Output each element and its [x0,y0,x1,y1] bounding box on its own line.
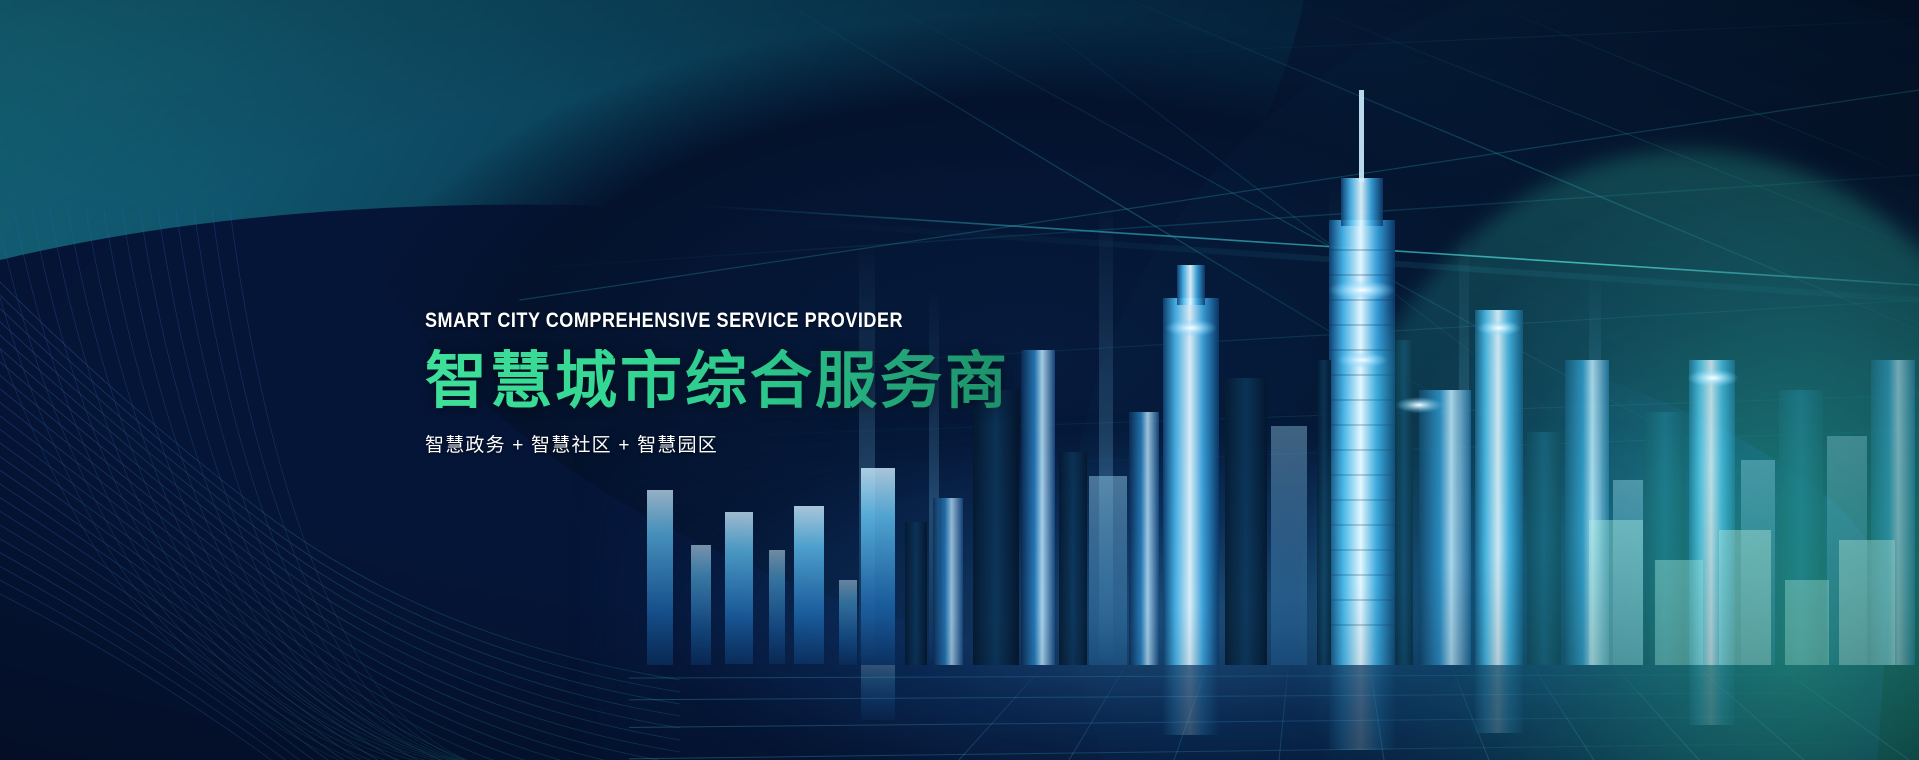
hero-text-block: SMART CITY COMPREHENSIVE SERVICE PROVIDE… [425,310,1010,457]
page-title: 智慧城市综合服务商 [425,349,1010,414]
smart-city-hero-banner: SMART CITY COMPREHENSIVE SERVICE PROVIDE… [0,0,1919,760]
eyebrow-tagline: SMART CITY COMPREHENSIVE SERVICE PROVIDE… [425,310,928,331]
subtitle-services: 智慧政务 + 智慧社区 + 智慧园区 [425,430,1010,457]
